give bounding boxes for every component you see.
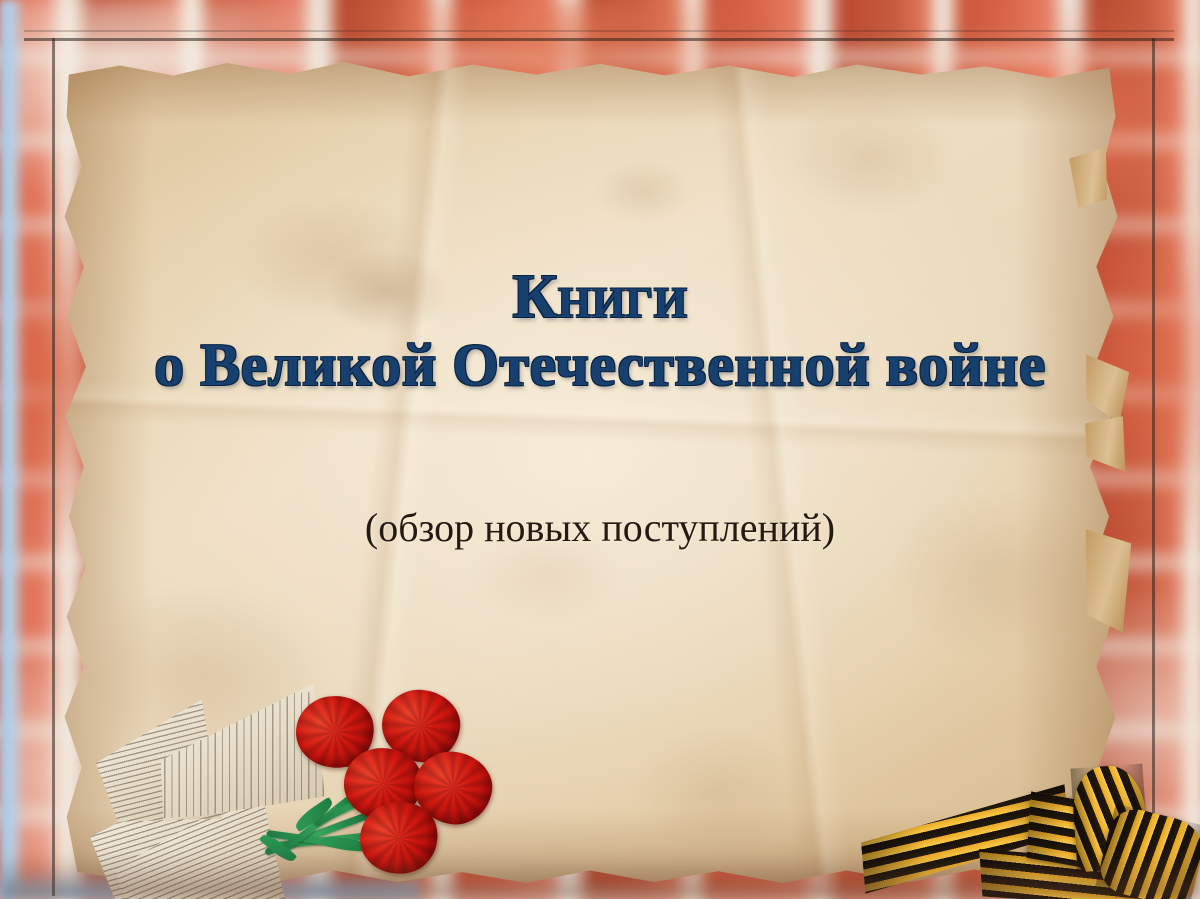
st-george-ribbon-group (860, 762, 1200, 899)
carnation-bloom (353, 795, 444, 882)
carnations-group (248, 690, 498, 880)
background-blue-edge-left (0, 0, 26, 899)
frame-line-top (24, 38, 1174, 41)
frame-line-left (52, 38, 55, 896)
title-slide: Книги о Великой Отечественной войне (обз… (0, 0, 1200, 899)
subtitle: (обзор новых поступлений) (0, 504, 1200, 551)
carnation-ruffle (353, 795, 444, 882)
frame-line-top-outer (24, 30, 1174, 32)
